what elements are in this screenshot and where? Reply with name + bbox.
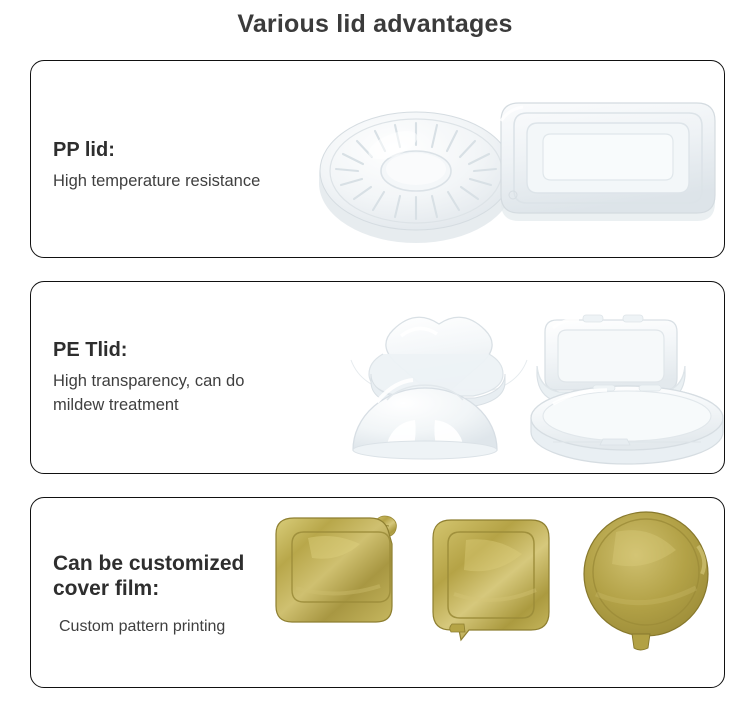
gold-square-cover-film-art xyxy=(433,520,549,640)
panel-pe-lid: PE Tlid: High transparency, can do milde… xyxy=(30,281,725,474)
panel-pe-subtitle: High transparency, can do mildew treatme… xyxy=(53,369,244,419)
panel-pp-heading: PP lid: xyxy=(53,139,260,163)
heart-shaped-pe-lid-art xyxy=(351,317,527,408)
panel-cf-product-images xyxy=(246,498,725,687)
panel-pp-subtitle: High temperature resistance xyxy=(53,169,260,194)
gold-rectangular-cover-film-art xyxy=(276,516,396,622)
oval-pe-lid-art xyxy=(531,385,723,464)
square-pe-lid-art xyxy=(537,315,685,402)
dome-pe-lid-art xyxy=(353,380,497,459)
panel-pp-text-block: PP lid: High temperature resistance xyxy=(53,139,260,193)
panel-cf-subtitle: Custom pattern printing xyxy=(53,615,244,639)
panel-pe-product-images xyxy=(331,282,725,473)
round-ribbed-pp-lid-art xyxy=(319,112,528,243)
panel-pe-text-block: PE Tlid: High transparency, can do milde… xyxy=(53,339,244,418)
panel-pp-product-images xyxy=(301,61,725,257)
gold-round-cover-film-art xyxy=(584,512,708,650)
panel-pp-lid: PP lid: High temperature resistance xyxy=(30,60,725,258)
panel-cf-text-block: Can be customized cover film: Custom pat… xyxy=(53,551,244,639)
panel-cf-heading: Can be customized cover film: xyxy=(53,551,244,601)
panel-custom-cover-film: Can be customized cover film: Custom pat… xyxy=(30,497,725,688)
page-title: Various lid advantages xyxy=(0,10,750,39)
panel-pe-heading: PE Tlid: xyxy=(53,339,244,363)
rectangular-pp-lid-art xyxy=(501,103,715,221)
